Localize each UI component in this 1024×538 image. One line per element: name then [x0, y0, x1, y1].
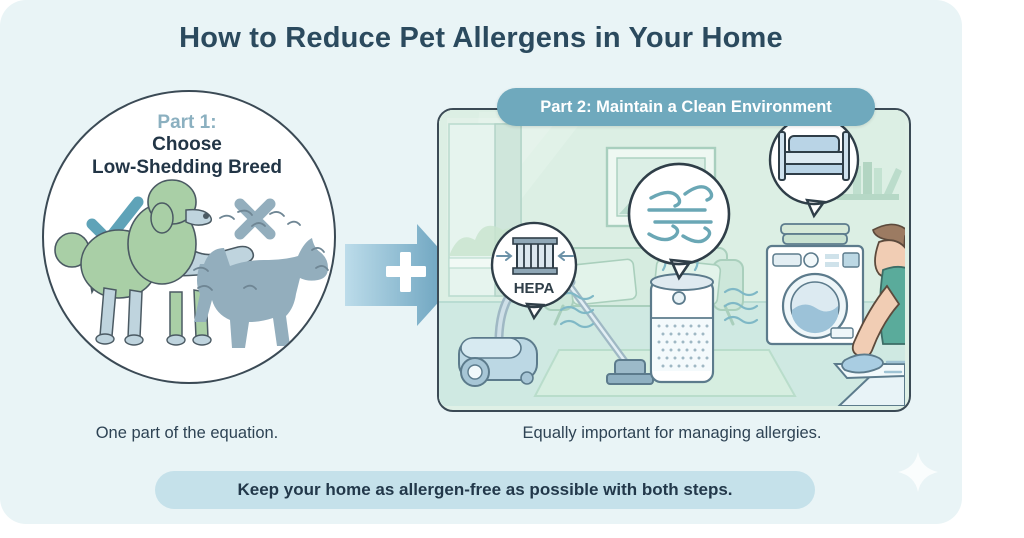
page-title: How to Reduce Pet Allergens in Your Home	[0, 22, 962, 55]
sparkle-icon	[896, 450, 940, 494]
part1-caption: One part of the equation.	[42, 424, 332, 443]
bubble-layer: HEPA	[439, 110, 905, 406]
part2-banner: Part 2: Maintain a Clean Environment	[497, 88, 875, 126]
footer-banner: Keep your home as allergen-free as possi…	[155, 471, 815, 509]
x-mark-icon	[240, 204, 270, 234]
infographic-card: How to Reduce Pet Allergens in Your Home	[0, 0, 962, 524]
part1-label-block: Part 1: Choose Low-Shedding Breed	[42, 112, 332, 179]
part1-heading-line1: Choose	[42, 134, 332, 156]
infographic-stage: How to Reduce Pet Allergens in Your Home	[0, 0, 1024, 538]
part1-heading-line2: Low-Shedding Breed	[42, 157, 332, 179]
part2-room-scene: HEPA	[437, 108, 911, 412]
airflow-bubble	[629, 164, 729, 278]
part1-eyebrow: Part 1:	[42, 112, 332, 134]
bed-icon	[779, 132, 849, 180]
hepa-bubble-label: HEPA	[514, 280, 555, 297]
hepa-filter-bubble: HEPA	[492, 223, 576, 318]
part2-caption: Equally important for managing allergies…	[437, 424, 907, 443]
bedding-bubble	[770, 116, 858, 216]
